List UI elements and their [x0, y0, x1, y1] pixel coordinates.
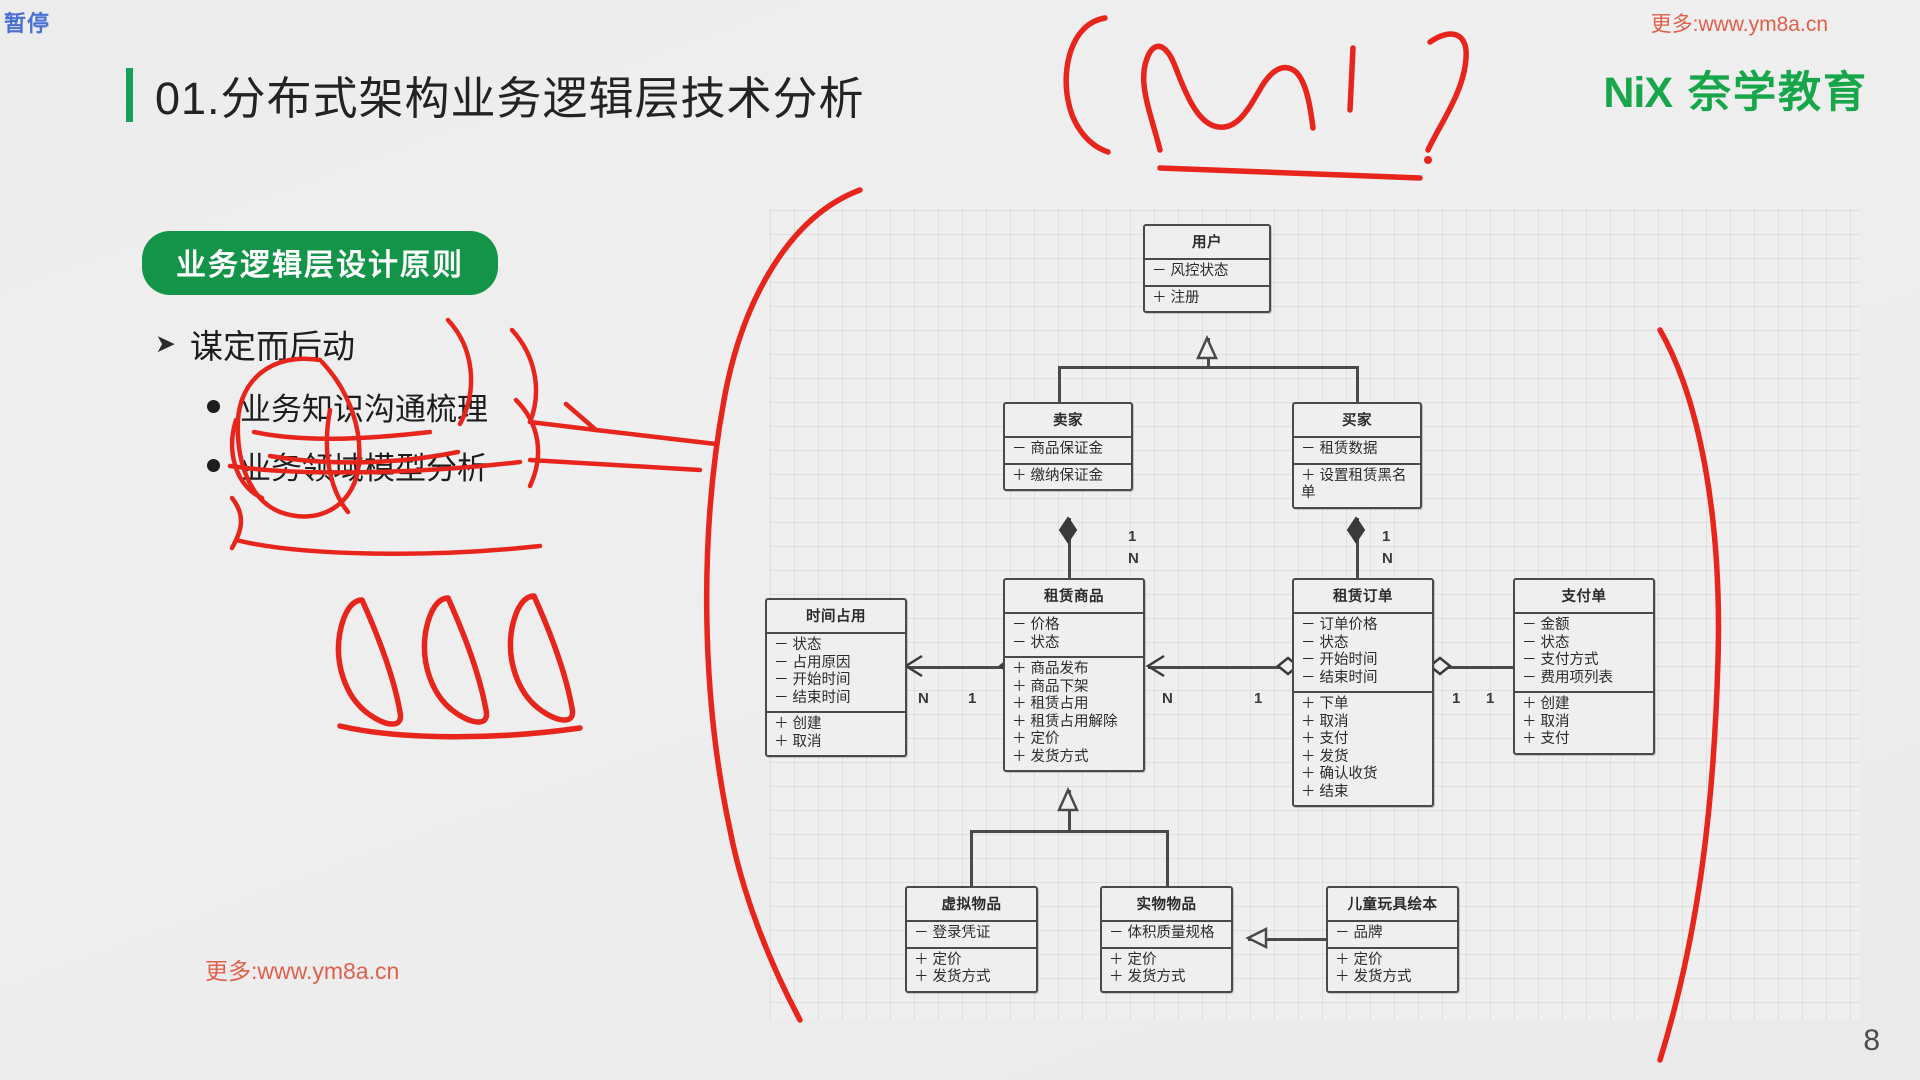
uml-attribute: － 结束时间: [774, 690, 898, 708]
connector-item-time: [908, 666, 1018, 669]
uml-attribute: － 费用项列表: [1522, 670, 1646, 688]
ink-dot-icon: [1424, 156, 1432, 164]
uml-method: ＋ 商品发布: [1012, 661, 1136, 679]
uml-method: ＋ 创建: [774, 716, 898, 734]
uml-methods: ＋ 下单 ＋ 取消 ＋ 支付 ＋ 发货 ＋ 确认收货 ＋ 结束: [1294, 691, 1432, 805]
multiplicity-label: 1: [1382, 528, 1390, 545]
uml-method: ＋ 定价: [914, 952, 1029, 970]
connector-buyer-stem: [1356, 366, 1359, 404]
uml-method: ＋ 发货: [1301, 749, 1425, 767]
uml-method: ＋ 定价: [1109, 952, 1224, 970]
uml-attributes: － 价格 － 状态: [1005, 614, 1143, 656]
uml-methods: ＋ 定价 ＋ 发货方式: [1102, 947, 1231, 991]
title-text: 01.分布式架构业务逻辑层技术分析: [155, 62, 865, 127]
uml-attribute: － 状态: [1522, 635, 1646, 653]
uml-attributes: － 订单价格 － 状态 － 开始时间 － 结束时间: [1294, 614, 1432, 691]
uml-class-rental-order[interactable]: 租赁订单 － 订单价格 － 状态 － 开始时间 － 结束时间 ＋ 下单 ＋ 取消…: [1292, 578, 1434, 807]
multiplicity-label: 1: [968, 690, 976, 707]
uml-attribute: － 占用原因: [774, 655, 898, 673]
uml-methods: ＋ 定价 ＋ 发货方式: [1328, 947, 1457, 991]
uml-method: ＋ 取消: [774, 734, 898, 752]
ink-letter-d3-icon: [510, 596, 572, 720]
list-item: 业务领域模型分析: [207, 443, 675, 488]
uml-attributes: － 体积质量规格: [1102, 922, 1231, 947]
uml-method: ＋ 缴纳保证金: [1012, 468, 1124, 486]
uml-class-name: 卖家: [1005, 404, 1131, 438]
uml-method: ＋ 支付: [1522, 731, 1646, 749]
uml-class-name: 租赁商品: [1005, 580, 1143, 614]
multiplicity-label: 1: [1486, 690, 1494, 707]
uml-methods: ＋ 商品发布 ＋ 商品下架 ＋ 租赁占用 ＋ 租赁占用解除 ＋ 定价 ＋ 发货方…: [1005, 656, 1143, 770]
multiplicity-label: 1: [1128, 528, 1136, 545]
uml-class-kids-toy-book[interactable]: 儿童玩具绘本 － 品牌 ＋ 定价 ＋ 发货方式: [1326, 886, 1459, 993]
uml-attribute: － 品牌: [1335, 925, 1450, 943]
uml-method: ＋ 设置租赁黑名单: [1301, 468, 1413, 503]
uml-class-seller[interactable]: 卖家 － 商品保证金 ＋ 缴纳保证金: [1003, 402, 1133, 491]
uml-class-physical-goods[interactable]: 实物物品 － 体积质量规格 ＋ 定价 ＋ 发货方式: [1100, 886, 1233, 993]
arrow-bullet-icon: ➤: [155, 329, 176, 359]
uml-attributes: － 风控状态: [1145, 260, 1269, 285]
list-item: 业务知识沟通梳理: [207, 384, 675, 429]
uml-class-name: 儿童玩具绘本: [1328, 888, 1457, 922]
ink-bracket-left-icon: [1066, 18, 1108, 152]
uml-class-name: 买家: [1294, 404, 1420, 438]
uml-method: ＋ 租赁占用: [1012, 696, 1136, 714]
ink-underline-ddd-icon: [340, 726, 580, 737]
uml-attribute: － 风控状态: [1152, 263, 1262, 281]
watermark-top-right: 更多:www.ym8a.cn: [1651, 8, 1828, 38]
brand-mark: NiX: [1603, 69, 1672, 118]
uml-attribute: － 状态: [1301, 635, 1425, 653]
multiplicity-label: N: [1128, 550, 1139, 567]
uml-methods: ＋ 创建 ＋ 取消 ＋ 支付: [1515, 691, 1653, 753]
connector-physical-stem: [1166, 830, 1169, 888]
page-number: 8: [1863, 1024, 1880, 1058]
list-item: ➤ 谋定而后动: [155, 320, 675, 368]
connector-subclass-bus: [1058, 366, 1358, 369]
watermark-bottom-left: 更多:www.ym8a.cn: [205, 952, 399, 986]
uml-attribute: － 支付方式: [1522, 652, 1646, 670]
uml-attribute: － 商品保证金: [1012, 441, 1124, 459]
connector-order-item: [1148, 666, 1298, 669]
uml-method: ＋ 定价: [1012, 731, 1136, 749]
uml-class-name: 用户: [1145, 226, 1269, 260]
multiplicity-label: 1: [1254, 690, 1262, 707]
list-item-label: 业务知识沟通梳理: [240, 384, 488, 429]
uml-class-payment[interactable]: 支付单 － 金额 － 状态 － 支付方式 － 费用项列表 ＋ 创建 ＋ 取消 ＋…: [1513, 578, 1655, 755]
multiplicity-label: N: [918, 690, 929, 707]
brand-name: 奈学教育: [1688, 58, 1868, 120]
uml-method: ＋ 发货方式: [1109, 969, 1224, 987]
uml-class-rental-item[interactable]: 租赁商品 － 价格 － 状态 ＋ 商品发布 ＋ 商品下架 ＋ 租赁占用 ＋ 租赁…: [1003, 578, 1145, 772]
uml-method: ＋ 商品下架: [1012, 679, 1136, 697]
uml-class-virtual-goods[interactable]: 虚拟物品 － 登录凭证 ＋ 定价 ＋ 发货方式: [905, 886, 1038, 993]
ink-tilde-zero-one-icon: [1144, 46, 1313, 150]
ink-bracket-right-icon: [1428, 34, 1466, 150]
uml-method: ＋ 取消: [1301, 714, 1425, 732]
uml-method: ＋ 发货方式: [1012, 749, 1136, 767]
pause-badge: 暂停: [4, 6, 50, 38]
ink-hook-icon: [232, 498, 241, 548]
multiplicity-label: N: [1382, 550, 1393, 567]
list-item-label: 谋定而后动: [190, 320, 355, 368]
connector-physical-kids: [1248, 938, 1326, 941]
uml-method: ＋ 支付: [1301, 731, 1425, 749]
page-title: 01.分布式架构业务逻辑层技术分析: [126, 62, 865, 127]
list-item-label: 业务领域模型分析: [240, 443, 488, 488]
uml-attribute: － 租赁数据: [1301, 441, 1413, 459]
uml-attribute: － 价格: [1012, 617, 1136, 635]
uml-method: ＋ 定价: [1335, 952, 1450, 970]
uml-attribute: － 开始时间: [774, 672, 898, 690]
uml-attribute: － 状态: [774, 637, 898, 655]
ink-underline-bullet2-icon: [236, 540, 540, 554]
uml-methods: ＋ 缴纳保证金: [1005, 463, 1131, 490]
uml-class-name: 时间占用: [767, 600, 905, 634]
connector-buyer-order: [1356, 518, 1359, 580]
uml-methods: ＋ 创建 ＋ 取消: [767, 711, 905, 755]
uml-method: ＋ 下单: [1301, 696, 1425, 714]
multiplicity-label: 1: [1452, 690, 1460, 707]
uml-method: ＋ 取消: [1522, 714, 1646, 732]
uml-class-time-occupy[interactable]: 时间占用 － 状态 － 占用原因 － 开始时间 － 结束时间 ＋ 创建 ＋ 取消: [765, 598, 907, 757]
dot-bullet-icon: [207, 400, 220, 413]
connector-user-stem: [1207, 338, 1210, 368]
uml-class-name: 租赁订单: [1294, 580, 1432, 614]
uml-method: ＋ 结束: [1301, 784, 1425, 802]
uml-methods: ＋ 定价 ＋ 发货方式: [907, 947, 1036, 991]
uml-method: ＋ 确认收货: [1301, 766, 1425, 784]
uml-method: ＋ 注册: [1152, 290, 1262, 308]
multiplicity-label: N: [1162, 690, 1173, 707]
ink-letter-d2-icon: [424, 598, 486, 722]
connector-seller-stem: [1058, 366, 1061, 404]
uml-attribute: － 金额: [1522, 617, 1646, 635]
uml-attributes: － 状态 － 占用原因 － 开始时间 － 结束时间: [767, 634, 905, 711]
uml-class-name: 实物物品: [1102, 888, 1231, 922]
uml-attribute: － 结束时间: [1301, 670, 1425, 688]
uml-methods: ＋ 注册: [1145, 285, 1269, 312]
uml-class-name: 虚拟物品: [907, 888, 1036, 922]
uml-attribute: － 登录凭证: [914, 925, 1029, 943]
connector-order-payment: [1430, 666, 1520, 669]
slide-canvas: 暂停 01.分布式架构业务逻辑层技术分析 NiX 奈学教育 更多:www.ym8…: [0, 0, 1920, 1080]
title-accent-bar: [126, 68, 133, 122]
connector-goods-bus: [970, 830, 1166, 833]
uml-attributes: － 租赁数据: [1294, 438, 1420, 463]
uml-method: ＋ 租赁占用解除: [1012, 714, 1136, 732]
section-pill: 业务逻辑层设计原则: [142, 231, 498, 295]
connector-virtual-stem: [970, 830, 973, 888]
uml-method: ＋ 发货方式: [1335, 969, 1450, 987]
ink-one-icon: [1350, 48, 1353, 110]
uml-class-user[interactable]: 用户 － 风控状态 ＋ 注册: [1143, 224, 1271, 313]
uml-attribute: － 状态: [1012, 635, 1136, 653]
uml-attributes: － 登录凭证: [907, 922, 1036, 947]
uml-attributes: － 商品保证金: [1005, 438, 1131, 463]
uml-method: ＋ 创建: [1522, 696, 1646, 714]
uml-attributes: － 金额 － 状态 － 支付方式 － 费用项列表: [1515, 614, 1653, 691]
uml-attribute: － 体积质量规格: [1109, 925, 1224, 943]
uml-class-name: 支付单: [1515, 580, 1653, 614]
ink-underline-icon: [1160, 168, 1420, 178]
brand-logo: NiX 奈学教育: [1603, 58, 1868, 120]
uml-methods: ＋ 设置租赁黑名单: [1294, 463, 1420, 507]
uml-attributes: － 品牌: [1328, 922, 1457, 947]
uml-attribute: － 开始时间: [1301, 652, 1425, 670]
ink-letter-d1-icon: [338, 600, 400, 724]
connector-item-down-stem: [1068, 790, 1071, 832]
uml-method: ＋ 发货方式: [914, 969, 1029, 987]
connector-seller-item: [1068, 518, 1071, 580]
uml-class-buyer[interactable]: 买家 － 租赁数据 ＋ 设置租赁黑名单: [1292, 402, 1422, 509]
bullet-list: ➤ 谋定而后动 业务知识沟通梳理 业务领域模型分析: [155, 320, 675, 502]
uml-attribute: － 订单价格: [1301, 617, 1425, 635]
dot-bullet-icon: [207, 459, 220, 472]
